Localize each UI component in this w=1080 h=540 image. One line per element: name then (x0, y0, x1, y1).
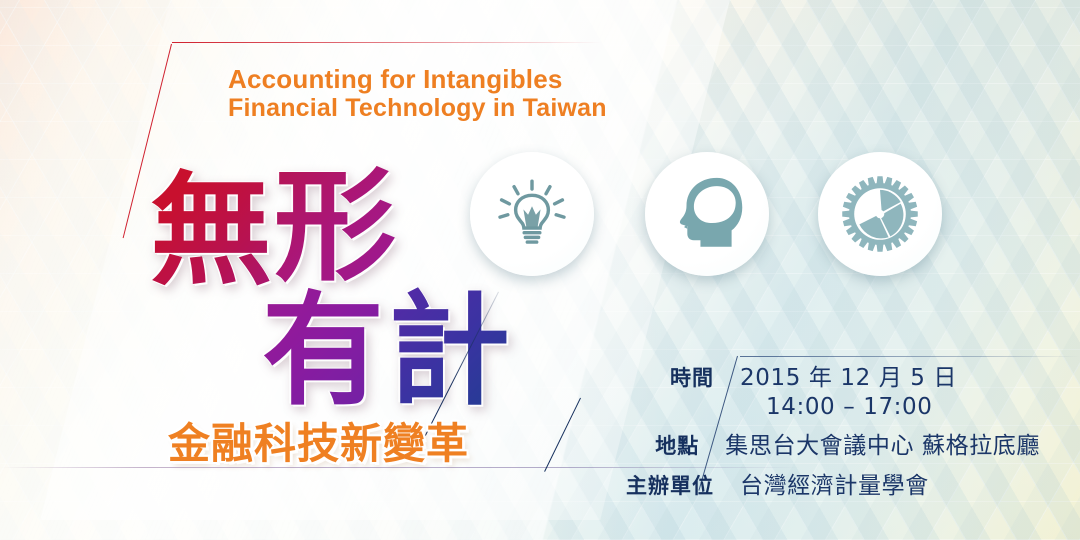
detail-value-organizer: 台灣經濟計量學會 (740, 466, 929, 500)
icon-circle-gear (818, 152, 942, 276)
red-horizontal-accent (172, 42, 602, 43)
details-top-rule (740, 356, 1080, 357)
detail-row-organizer: 主辦單位 台灣經濟計量學會 (600, 466, 1040, 500)
detail-row-time: 時間 2015 年 12 月 5 日 (600, 358, 1040, 392)
head-brain-icon (666, 173, 748, 255)
detail-value-date: 2015 年 12 月 5 日 (740, 358, 957, 392)
lightbulb-icon (493, 175, 571, 253)
detail-label-venue: 地點 (600, 430, 725, 460)
detail-label-organizer: 主辦單位 (600, 470, 740, 500)
english-title-line-1: Accounting for Intangibles (228, 64, 828, 94)
icon-circle-lightbulb (470, 152, 594, 276)
poster-canvas: Accounting for Intangibles Financial Tec… (0, 0, 1080, 540)
event-details: 時間 2015 年 12 月 5 日 14:00 – 17:00 地點 集思台大… (600, 358, 1040, 502)
detail-label-time: 時間 (600, 362, 740, 392)
gear-icon (837, 171, 923, 257)
english-title-line-2: Financial Technology in Taiwan (228, 94, 828, 123)
detail-row-venue: 地點 集思台大會議中心 蘇格拉底廳 (600, 426, 1040, 460)
icon-circle-head-brain (645, 152, 769, 276)
english-title: Accounting for Intangibles Financial Tec… (228, 64, 828, 123)
chinese-subtitle: 金融科技新變革 (168, 410, 469, 471)
detail-value-venue: 集思台大會議中心 蘇格拉底廳 (725, 426, 1040, 460)
detail-value-time-range: 14:00 – 17:00 (766, 394, 1040, 420)
